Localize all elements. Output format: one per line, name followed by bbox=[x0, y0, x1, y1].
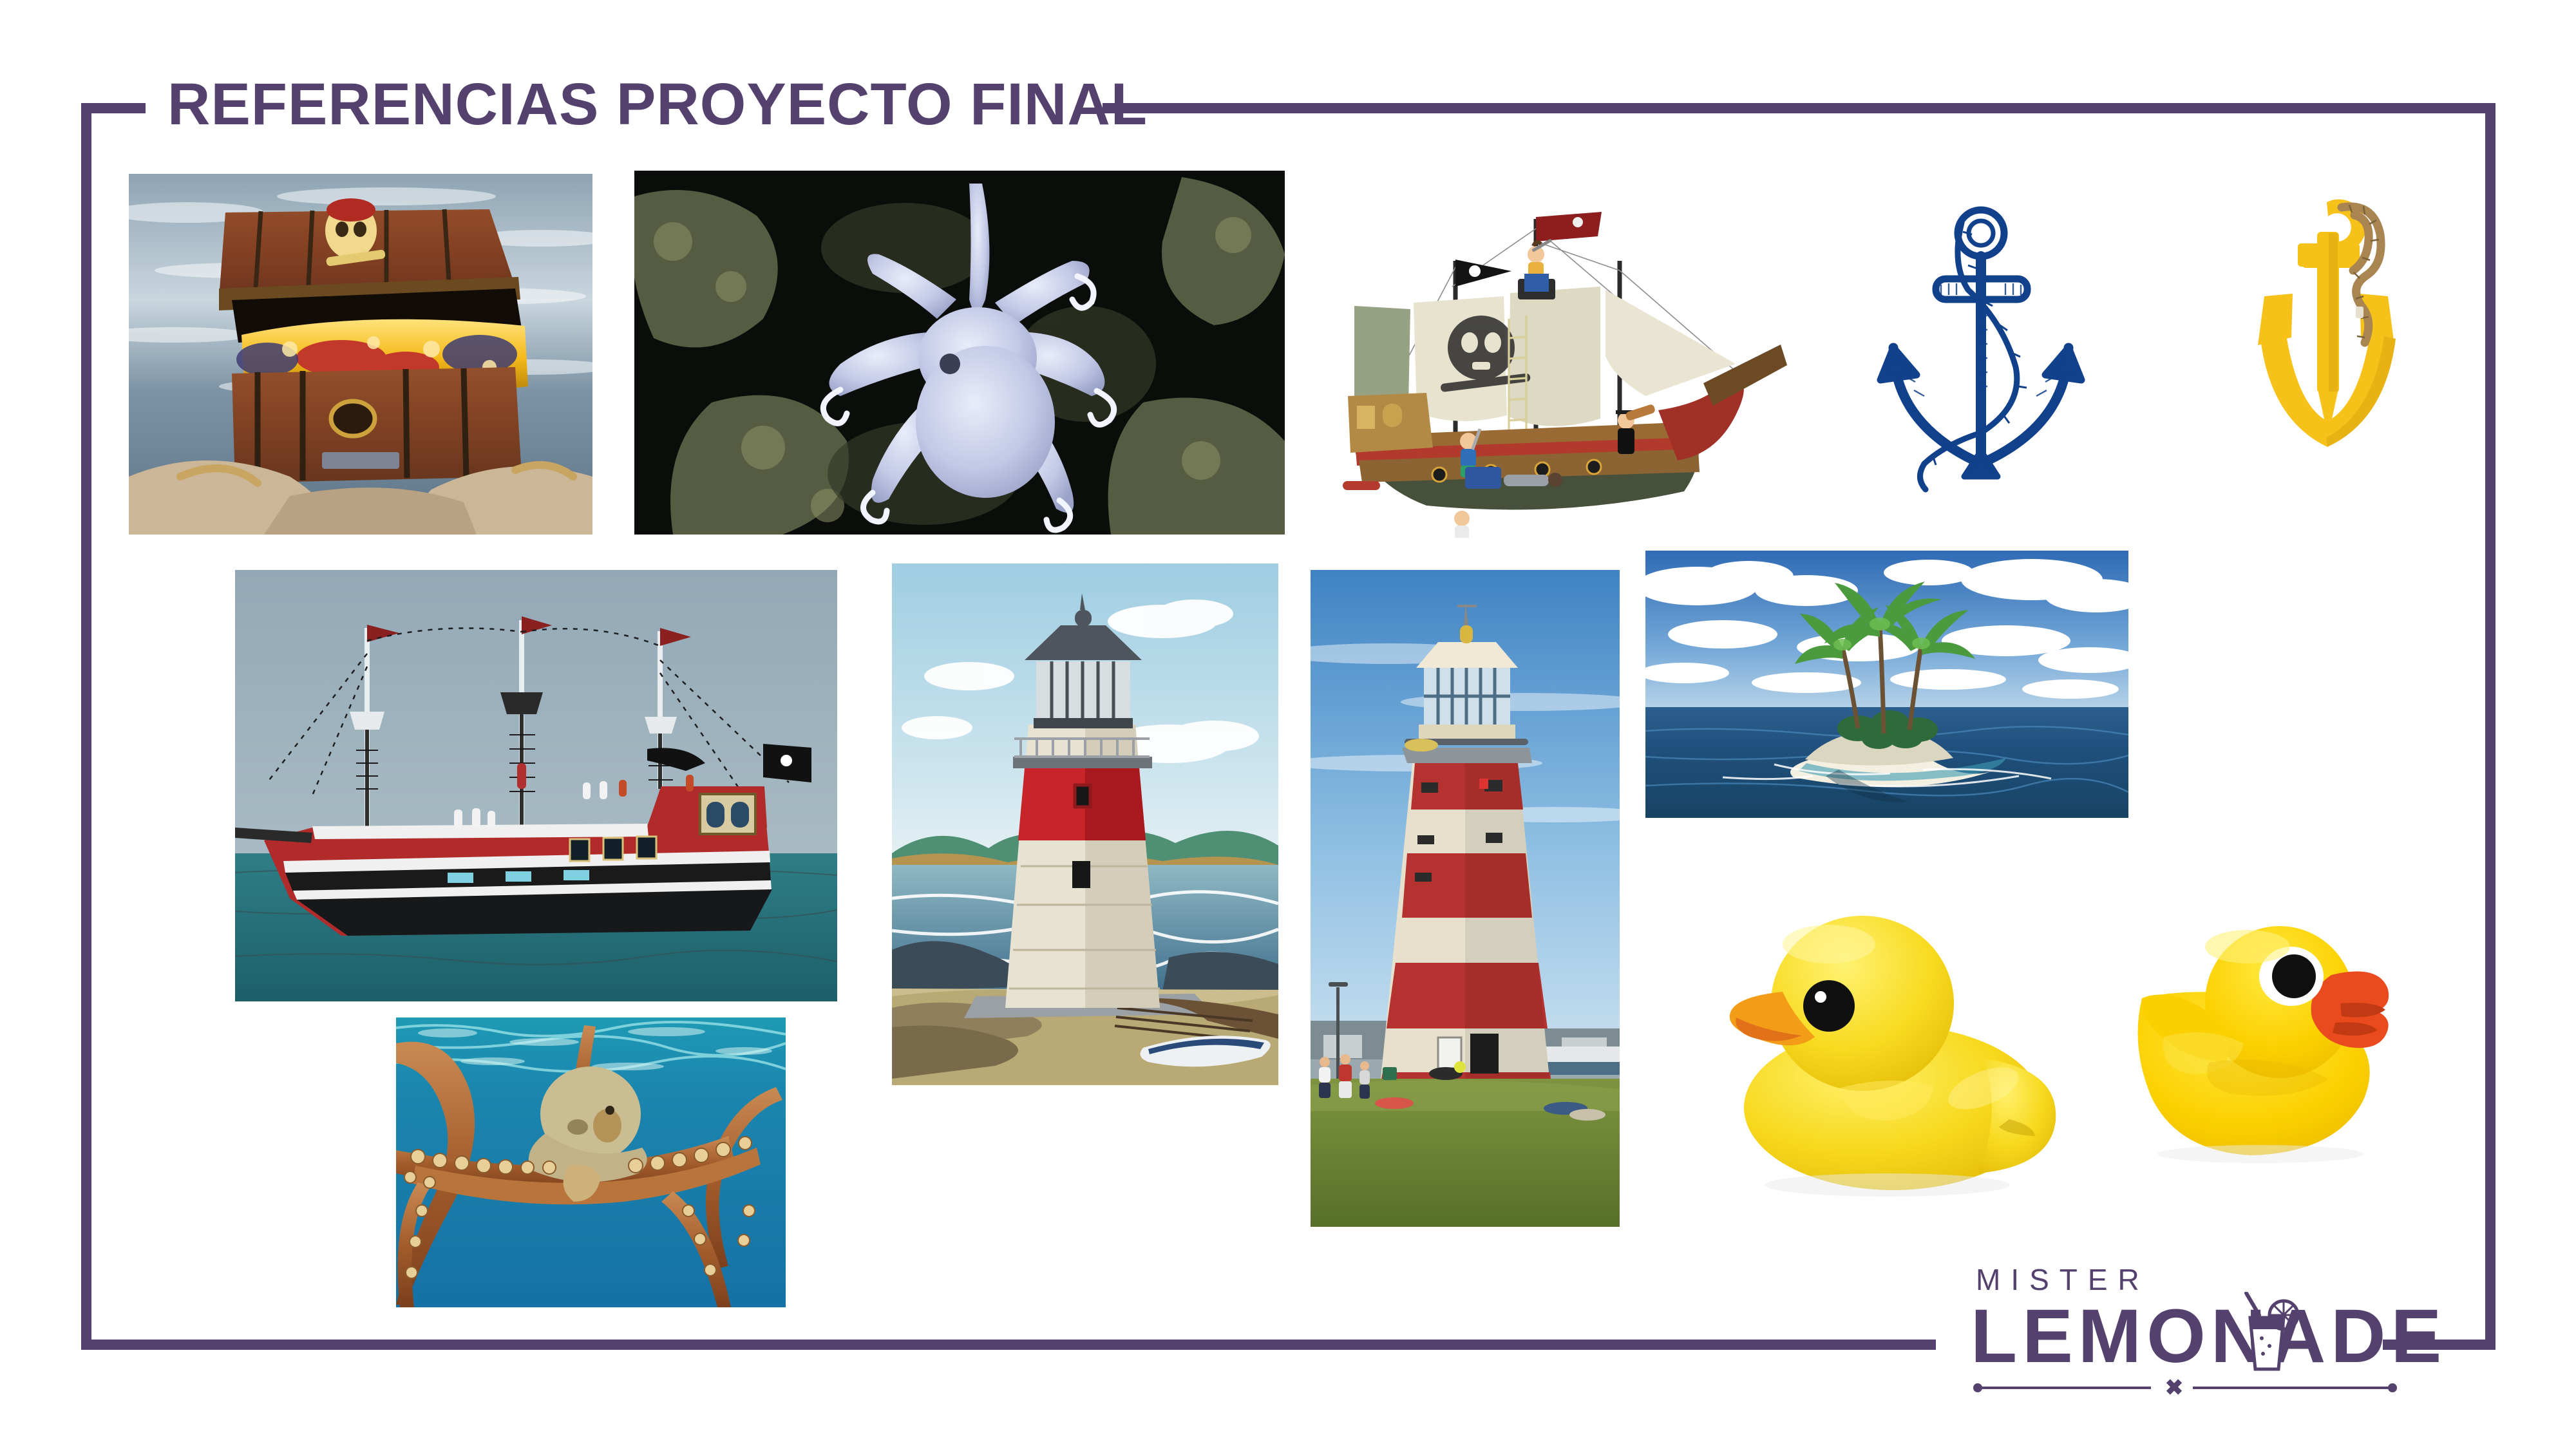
frame-bottom-segment bbox=[81, 1340, 1936, 1350]
logo-divider-dot-right bbox=[2388, 1383, 2397, 1392]
moodboard-image-rubber-duck-left[interactable] bbox=[1713, 895, 2061, 1207]
frame-top-right-segment bbox=[1103, 103, 2495, 113]
page-title: REFERENCIAS PROYECTO FINAL bbox=[167, 71, 1148, 138]
moodboard-image-palm-island[interactable] bbox=[1645, 551, 2128, 818]
moodboard-image-treasure-chest[interactable] bbox=[129, 174, 592, 535]
moodboard-image-red-pirate-ship[interactable] bbox=[235, 570, 837, 1001]
logo-divider: ✖ bbox=[1971, 1378, 2421, 1397]
brand-logo: MISTER LEMONADE ✖ bbox=[1971, 1262, 2421, 1391]
moodboard-image-rubber-duck-right[interactable] bbox=[2119, 908, 2389, 1172]
logo-main-word: LEMONADE bbox=[1971, 1298, 2421, 1374]
moodboard-image-white-octopus[interactable] bbox=[634, 171, 1285, 535]
frame-left-segment bbox=[81, 103, 91, 1349]
logo-divider-cross-icon: ✖ bbox=[2162, 1378, 2186, 1399]
logo-divider-line-right bbox=[2193, 1387, 2392, 1389]
lemonade-cup-icon bbox=[2231, 1292, 2303, 1376]
logo-top-word: MISTER bbox=[1971, 1262, 2421, 1297]
moodboard-image-toy-pirate-ship[interactable] bbox=[1343, 184, 1787, 538]
slide-canvas: REFERENCIAS PROYECTO FINAL bbox=[0, 0, 2576, 1449]
moodboard-image-painted-lighthouse[interactable] bbox=[892, 563, 1278, 1085]
moodboard-image-brown-octopus[interactable] bbox=[396, 1018, 786, 1307]
frame-right-segment bbox=[2485, 103, 2495, 1350]
moodboard-image-blue-anchor-illustration[interactable] bbox=[1855, 193, 2106, 496]
moodboard-image-yellow-anchor[interactable] bbox=[2241, 193, 2454, 470]
logo-divider-line-left bbox=[1977, 1387, 2151, 1389]
moodboard-image-striped-lighthouse[interactable] bbox=[1311, 570, 1620, 1227]
